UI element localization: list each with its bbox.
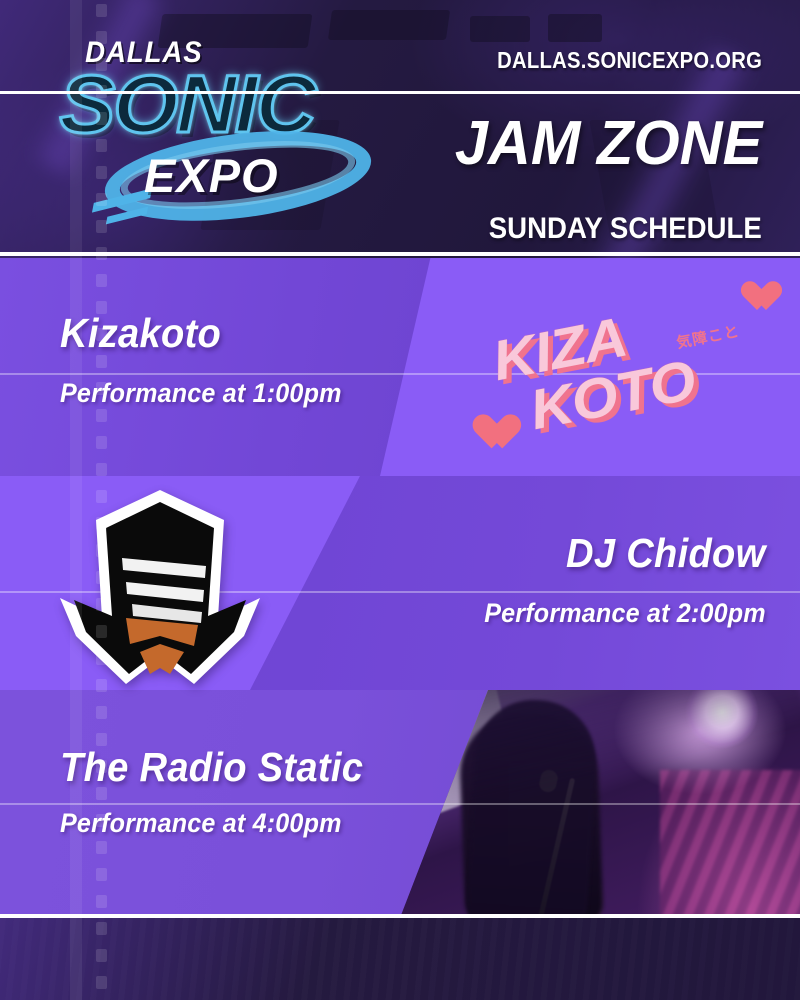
- performance-time: Performance at 2:00pm: [484, 598, 766, 629]
- heart-icon: [481, 415, 521, 450]
- logo-expo-text: EXPO: [144, 148, 279, 203]
- photo-stage-curtain: [660, 770, 800, 918]
- header-bottom-divider: [0, 252, 800, 256]
- kizakoto-logo: KIZA KOTO 気障こと: [478, 276, 790, 466]
- artist-name: DJ Chidow: [566, 530, 766, 577]
- header-top-divider: [0, 91, 800, 94]
- page-title: JAM ZONE: [454, 108, 762, 179]
- row3-hairline: [0, 803, 800, 805]
- jam-zone-schedule-poster: DALLAS SONIC EXPO DALLAS.SONICEXPO.ORG J…: [0, 0, 800, 1000]
- kizakoto-logo-japanese: 気障こと: [675, 320, 742, 353]
- poster-header: DALLAS SONIC EXPO DALLAS.SONICEXPO.ORG J…: [0, 0, 800, 258]
- performance-time: Performance at 1:00pm: [60, 378, 342, 409]
- poster-footer: [0, 918, 800, 1000]
- page-subtitle: SUNDAY SCHEDULE: [489, 212, 762, 246]
- heart-icon: [748, 282, 782, 312]
- performance-time: Performance at 4:00pm: [60, 808, 342, 839]
- dallas-sonic-expo-logo: DALLAS SONIC EXPO: [62, 36, 392, 216]
- footer-texture: [0, 918, 800, 1000]
- footer-divider: [0, 914, 800, 918]
- artist-name: The Radio Static: [60, 744, 363, 791]
- dj-chidow-emblem-icon: [48, 486, 278, 686]
- event-website-url[interactable]: DALLAS.SONICEXPO.ORG: [497, 47, 762, 74]
- artist-name: Kizakoto: [60, 310, 221, 357]
